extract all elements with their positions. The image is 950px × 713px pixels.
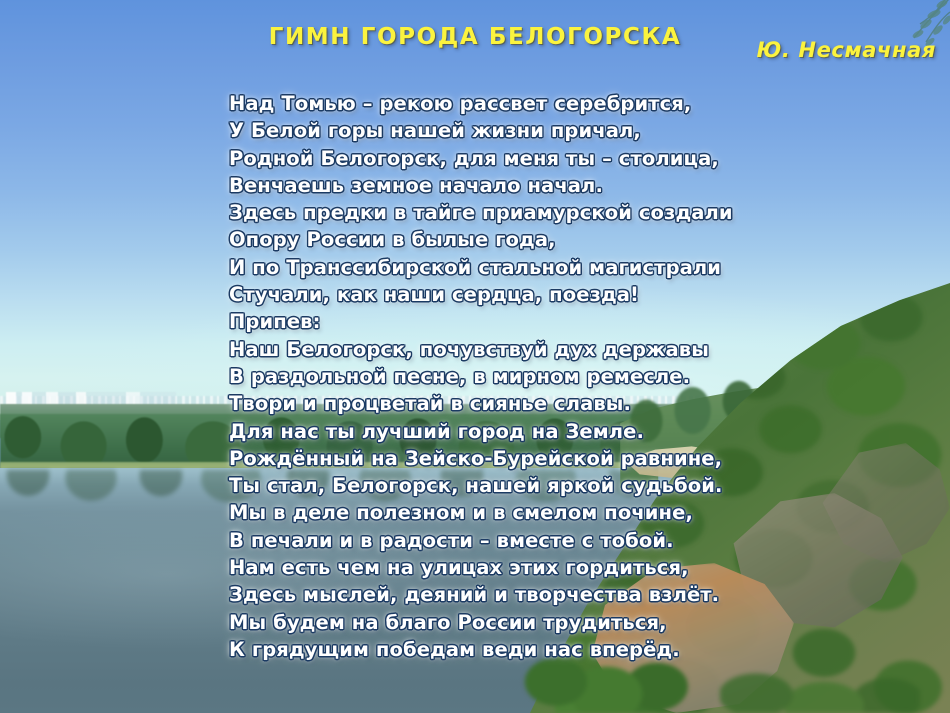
lyric-line: Мы будем на благо России трудиться,	[229, 609, 789, 636]
tree-branch-icon	[846, 0, 950, 110]
poster-canvas: ГИМН ГОРОДА БЕЛОГОРСКА Ю. Несмачная Над …	[0, 0, 950, 713]
lyric-line: Наш Белогорск, почувствуй дух державы	[229, 336, 789, 363]
lyric-line: В печали и в радости – вместе с тобой.	[229, 527, 789, 554]
lyric-line: Для нас ты лучший город на Земле.	[229, 418, 789, 445]
lyric-line: Над Томью – рекою рассвет серебрится,	[229, 90, 789, 117]
lyric-line: Твори и процветай в сиянье славы.	[229, 390, 789, 417]
lyric-line: В раздольной песне, в мирном ремесле.	[229, 363, 789, 390]
lyric-line: К грядущим победам веди нас вперёд.	[229, 636, 789, 663]
lyric-line-chorus-label: Припев:	[229, 308, 789, 335]
lyric-line: Рождённый на Зейско-Бурейской равнине,	[229, 445, 789, 472]
lyric-line: Нам есть чем на улицах этих гордиться,	[229, 554, 789, 581]
lyric-line: Родной Белогорск, для меня ты – столица,	[229, 145, 789, 172]
lyric-line: И по Транссибирской стальной магистрали	[229, 254, 789, 281]
lyric-line: Мы в деле полезном и в смелом почине,	[229, 499, 789, 526]
lyric-line: Венчаешь земное начало начал.	[229, 172, 789, 199]
lyric-line: Здесь мыслей, деяний и творчества взлёт.	[229, 581, 789, 608]
lyric-line: Здесь предки в тайге приамурской создали	[229, 199, 789, 226]
lyric-line: Опору России в былые года,	[229, 226, 789, 253]
lyric-line: Стучали, как наши сердца, поезда!	[229, 281, 789, 308]
lyric-line: Ты стал, Белогорск, нашей яркой судьбой.	[229, 472, 789, 499]
lyrics-block: Над Томью – рекою рассвет серебрится, У …	[229, 90, 789, 663]
lyric-line: У Белой горы нашей жизни причал,	[229, 117, 789, 144]
